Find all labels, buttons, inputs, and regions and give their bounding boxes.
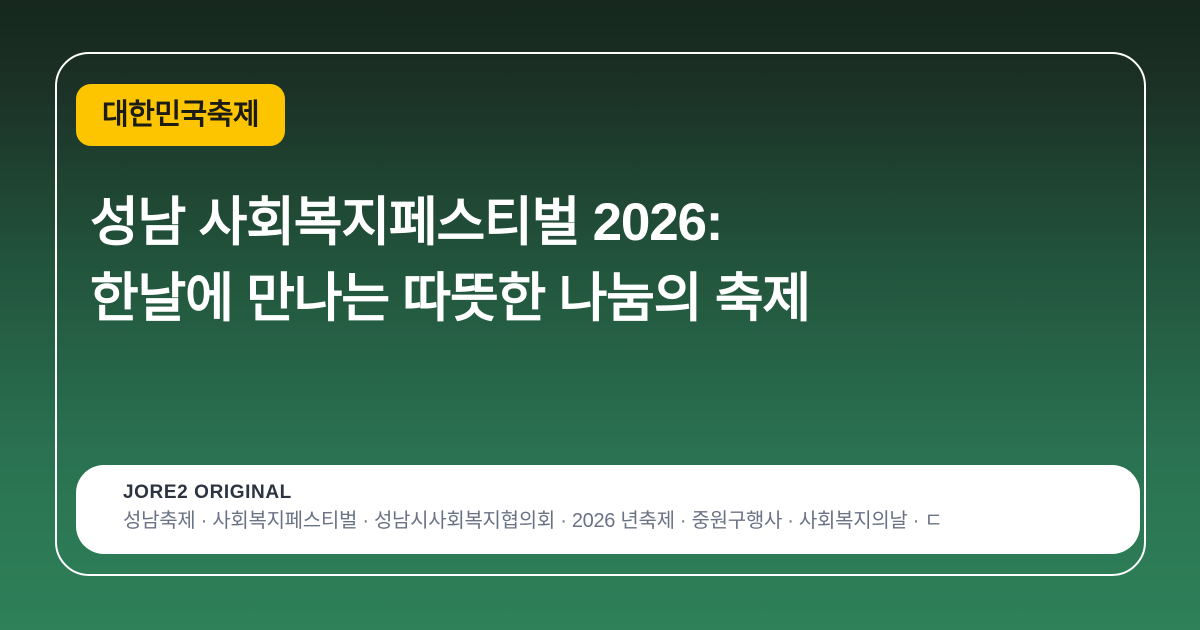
tag-list: 성남축제 · 사회복지페스티벌 · 성남시사회복지협의회 · 2026 년축제 …	[123, 506, 1200, 536]
brand-label: JORE2 ORIGINAL	[123, 480, 1200, 506]
page-title: 성남 사회복지페스티벌 2026: 한날에 만나는 따뜻한 나눔의 축제	[90, 185, 1110, 337]
og-image-canvas: 대한민국축제 성남 사회복지페스티벌 2026: 한날에 만나는 따뜻한 나눔의…	[0, 0, 1200, 630]
category-badge-label: 대한민국축제	[102, 101, 259, 130]
category-badge: 대한민국축제	[76, 84, 285, 146]
page-title-line-1: 성남 사회복지페스티벌 2026:	[90, 185, 1110, 261]
page-title-line-2: 한날에 만나는 따뜻한 나눔의 축제	[90, 261, 1110, 337]
card-content: 대한민국축제 성남 사회복지페스티벌 2026: 한날에 만나는 따뜻한 나눔의…	[55, 52, 1146, 576]
footer-text-block: JORE2 ORIGINAL 성남축제 · 사회복지페스티벌 · 성남시사회복지…	[76, 465, 1200, 554]
